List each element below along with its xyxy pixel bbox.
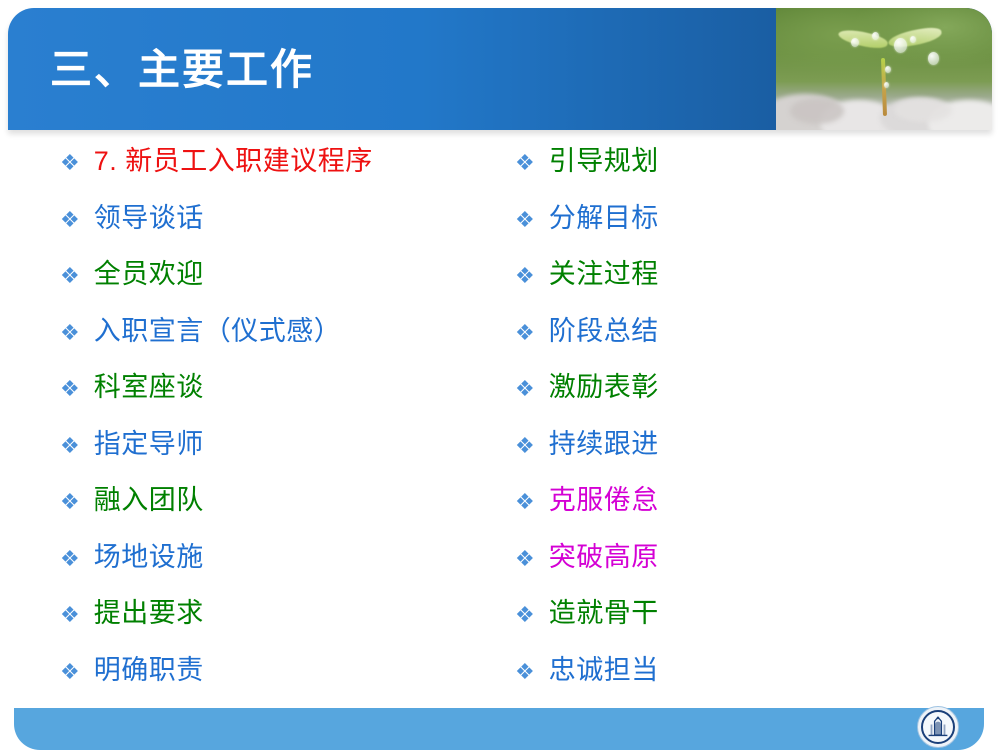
- bullet-item: ❖领导谈话: [60, 205, 500, 262]
- bullet-item-label: 阶段总结: [549, 318, 659, 345]
- bullet-item-label: 分解目标: [549, 205, 659, 232]
- diamond-bullet-icon: ❖: [60, 265, 80, 287]
- diamond-bullet-icon: ❖: [515, 491, 535, 513]
- header-banner: 三、主要工作: [8, 8, 992, 130]
- bullet-item-label: 关注过程: [549, 261, 659, 288]
- diamond-bullet-icon: ❖: [515, 435, 535, 457]
- bullet-column-left: ❖7. 新员工入职建议程序❖领导谈话❖全员欢迎❖入职宣言（仪式感）❖科室座谈❖指…: [60, 148, 500, 713]
- institution-seal-logo-icon: [917, 706, 959, 748]
- bullet-item: ❖提出要求: [60, 600, 500, 657]
- bullet-item-label: 引导规划: [549, 148, 659, 175]
- bullet-item-label: 激励表彰: [549, 374, 659, 401]
- diamond-bullet-icon: ❖: [60, 661, 80, 683]
- bullet-item-label: 造就骨干: [549, 600, 659, 627]
- dew-drop: [885, 66, 891, 73]
- diamond-bullet-icon: ❖: [515, 548, 535, 570]
- bullet-item-label: 场地设施: [94, 544, 204, 571]
- diamond-bullet-icon: ❖: [60, 491, 80, 513]
- bullet-item-label: 领导谈话: [94, 205, 204, 232]
- bullet-item-label: 科室座谈: [94, 374, 204, 401]
- footer-bar: [14, 708, 984, 750]
- bullet-item: ❖引导规划: [515, 148, 915, 205]
- dew-drop: [884, 82, 889, 88]
- diamond-bullet-icon: ❖: [60, 435, 80, 457]
- diamond-bullet-icon: ❖: [60, 322, 80, 344]
- bullet-item: ❖激励表彰: [515, 374, 915, 431]
- diamond-bullet-icon: ❖: [515, 265, 535, 287]
- bullet-item-label: 持续跟进: [549, 431, 659, 458]
- bullet-item-label: 指定导师: [94, 431, 204, 458]
- bullet-item-label: 明确职责: [94, 657, 204, 684]
- bullet-item: ❖关注过程: [515, 261, 915, 318]
- diamond-bullet-icon: ❖: [515, 661, 535, 683]
- diamond-bullet-icon: ❖: [515, 378, 535, 400]
- dew-drop: [894, 38, 907, 53]
- bullet-item-label: 提出要求: [94, 600, 204, 627]
- diamond-bullet-icon: ❖: [515, 152, 535, 174]
- bullet-item: ❖融入团队: [60, 487, 500, 544]
- page-title: 三、主要工作: [50, 44, 314, 96]
- bullet-item: ❖分解目标: [515, 205, 915, 262]
- bullet-item: ❖场地设施: [60, 544, 500, 601]
- bullet-item: ❖克服倦怠: [515, 487, 915, 544]
- bullet-item: ❖指定导师: [60, 431, 500, 488]
- logo-emblem-glyph: [925, 714, 951, 740]
- dew-drop: [928, 52, 939, 65]
- pebble: [894, 98, 952, 122]
- diamond-bullet-icon: ❖: [60, 209, 80, 231]
- dew-drop: [851, 38, 859, 47]
- bullet-item: ❖持续跟进: [515, 431, 915, 488]
- header-photo-sprout: [776, 8, 992, 130]
- bullet-item: ❖明确职责: [60, 657, 500, 714]
- diamond-bullet-icon: ❖: [60, 548, 80, 570]
- diamond-bullet-icon: ❖: [60, 378, 80, 400]
- diamond-bullet-icon: ❖: [60, 604, 80, 626]
- bullet-item-label: 入职宣言（仪式感）: [94, 318, 342, 345]
- bullet-item-label: 突破高原: [549, 544, 659, 571]
- bullet-item-label: 全员欢迎: [94, 261, 204, 288]
- bullet-item-label: 融入团队: [94, 487, 204, 514]
- slide-content: ❖7. 新员工入职建议程序❖领导谈话❖全员欢迎❖入职宣言（仪式感）❖科室座谈❖指…: [0, 148, 1000, 708]
- bullet-item: ❖入职宣言（仪式感）: [60, 318, 500, 375]
- diamond-bullet-icon: ❖: [515, 209, 535, 231]
- bullet-item-label: 克服倦怠: [549, 487, 659, 514]
- bullet-item-label: 忠诚担当: [549, 657, 659, 684]
- bullet-item: ❖7. 新员工入职建议程序: [60, 148, 500, 205]
- bullet-item: ❖阶段总结: [515, 318, 915, 375]
- diamond-bullet-icon: ❖: [515, 322, 535, 344]
- bullet-item: ❖造就骨干: [515, 600, 915, 657]
- bullet-item: ❖科室座谈: [60, 374, 500, 431]
- dew-drop: [910, 36, 916, 43]
- bullet-column-right: ❖引导规划❖分解目标❖关注过程❖阶段总结❖激励表彰❖持续跟进❖克服倦怠❖突破高原…: [515, 148, 915, 713]
- bullet-item: ❖全员欢迎: [60, 261, 500, 318]
- dew-drop: [872, 32, 879, 40]
- diamond-bullet-icon: ❖: [515, 604, 535, 626]
- bullet-item: ❖突破高原: [515, 544, 915, 601]
- diamond-bullet-icon: ❖: [60, 152, 80, 174]
- pebble: [790, 98, 844, 124]
- bullet-item: ❖忠诚担当: [515, 657, 915, 714]
- bullet-item-label: 7. 新员工入职建议程序: [94, 148, 373, 175]
